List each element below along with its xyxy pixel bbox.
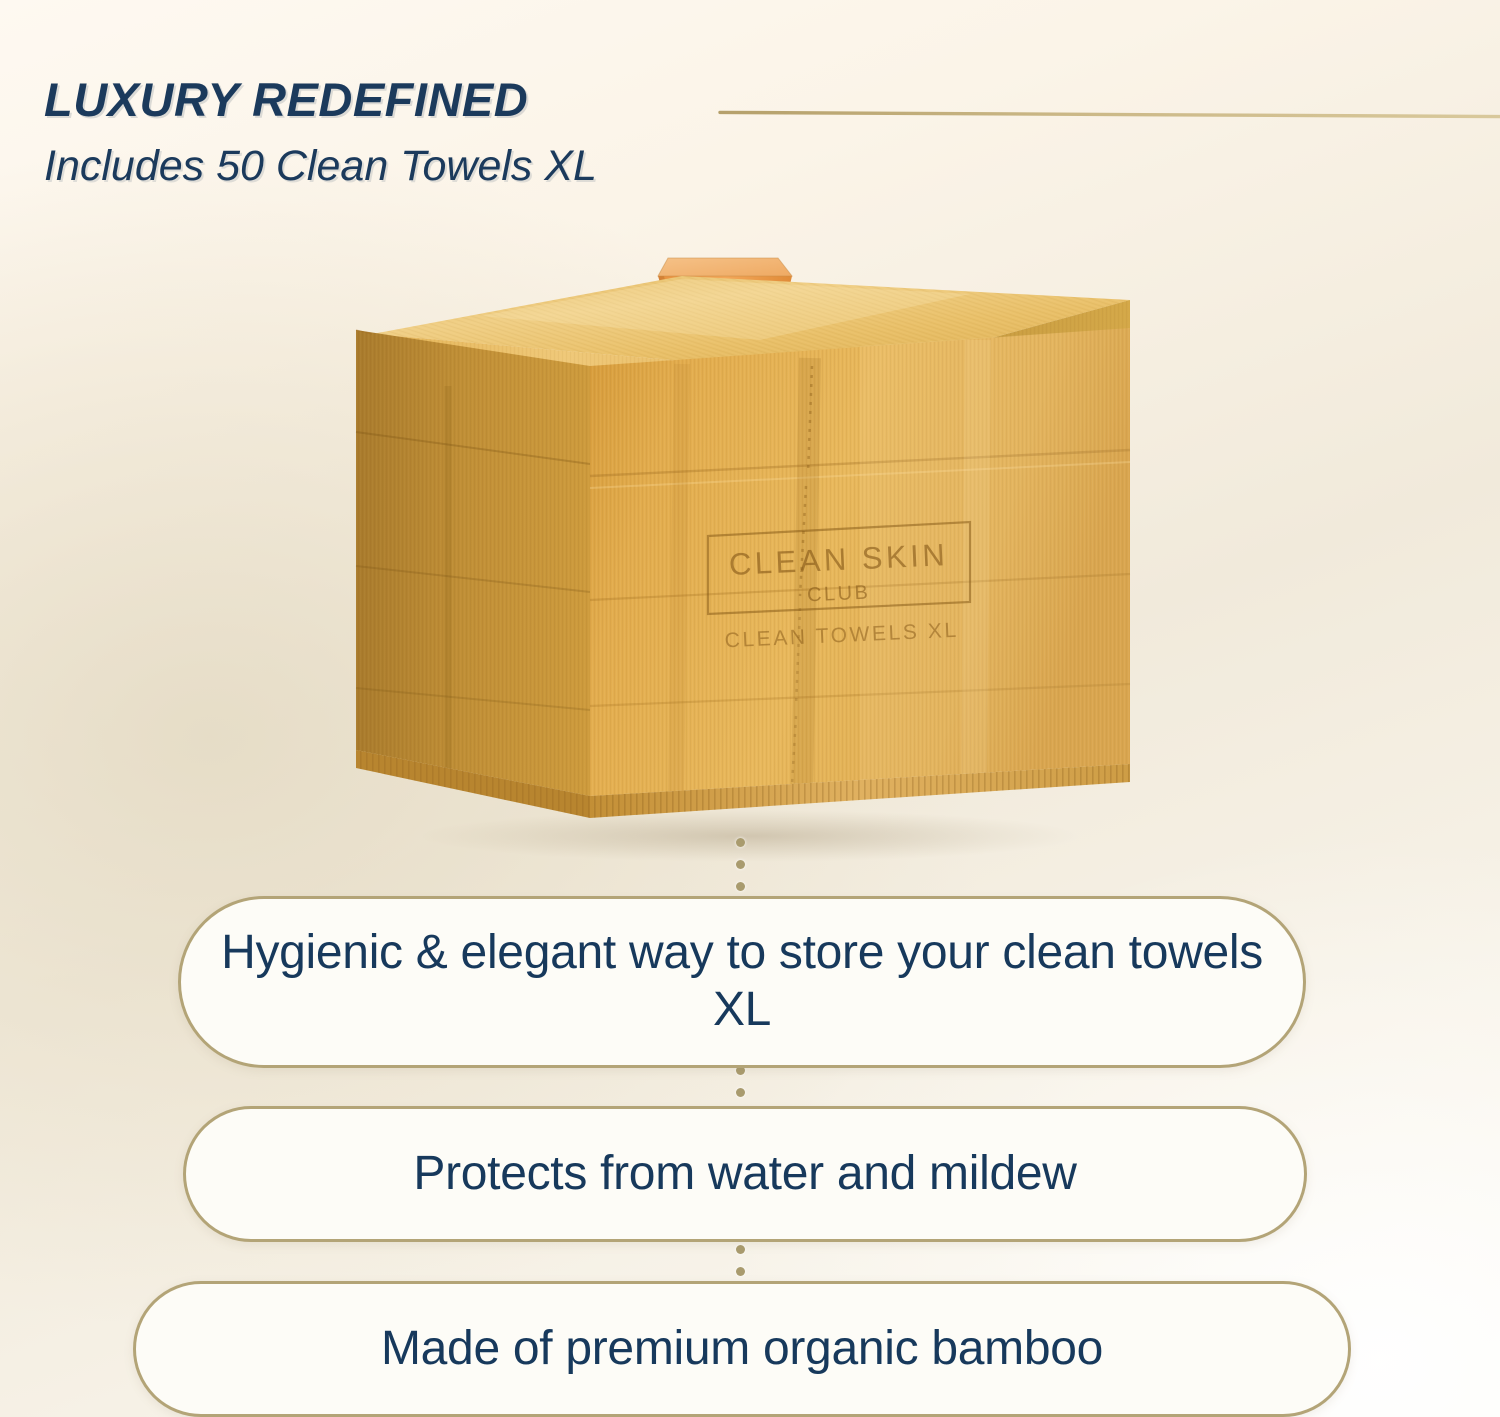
page-subtitle: Includes 50 Clean Towels XL bbox=[44, 145, 1464, 188]
connector-dot bbox=[736, 1245, 745, 1254]
feature-pill-3: Made of premium organic bamboo bbox=[133, 1281, 1351, 1417]
connector-dot bbox=[736, 882, 745, 891]
horizontal-rule-icon bbox=[720, 109, 1500, 119]
connector-dot bbox=[736, 860, 745, 869]
feature-pill-1: Hygienic & elegant way to store your cle… bbox=[178, 896, 1306, 1068]
feature-pill-3-label: Made of premium organic bamboo bbox=[347, 1321, 1137, 1378]
connector-dot bbox=[736, 838, 745, 847]
feature-pill-2: Protects from water and mildew bbox=[183, 1106, 1307, 1242]
connector-dot bbox=[736, 1088, 745, 1097]
feature-pill-2-label: Protects from water and mildew bbox=[379, 1146, 1110, 1203]
box-shadow bbox=[420, 810, 1080, 862]
connector-dot bbox=[736, 1267, 745, 1276]
feature-pill-1-label: Hygienic & elegant way to store your cle… bbox=[181, 925, 1303, 1038]
engraving-brand-line-2: CLUB bbox=[807, 582, 871, 607]
product-infographic: LUXURY REDEFINED Includes 50 Clean Towel… bbox=[0, 0, 1500, 1417]
header: LUXURY REDEFINED Includes 50 Clean Towel… bbox=[44, 76, 1464, 221]
bamboo-storage-box: CLEAN SKIN CLUB CLEAN TOWELS XL bbox=[330, 236, 1170, 866]
connector-dots-feature-1-to-2 bbox=[733, 1066, 747, 1110]
